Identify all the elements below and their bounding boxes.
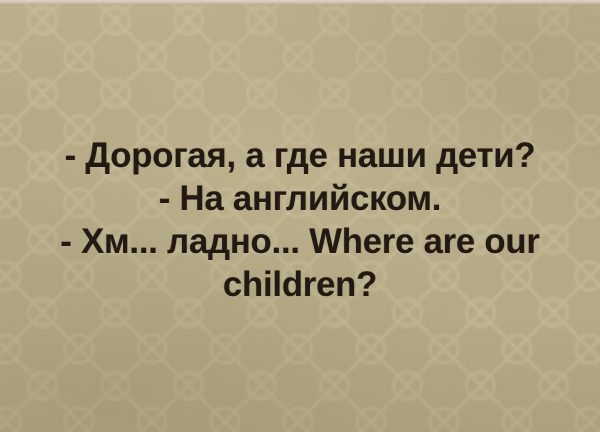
caption-line-1: - Дорогая, а где наши дети? [13, 134, 587, 177]
caption-line-3: - Хм... ладно... Where are our [13, 220, 587, 263]
caption-line-2: - На английском. [13, 177, 587, 220]
caption-text-block: - Дорогая, а где наши дети? - На английс… [0, 0, 600, 432]
meme-image-canvas: - Дорогая, а где наши дети? - На английс… [0, 0, 600, 432]
caption-line-4: children? [13, 263, 587, 306]
